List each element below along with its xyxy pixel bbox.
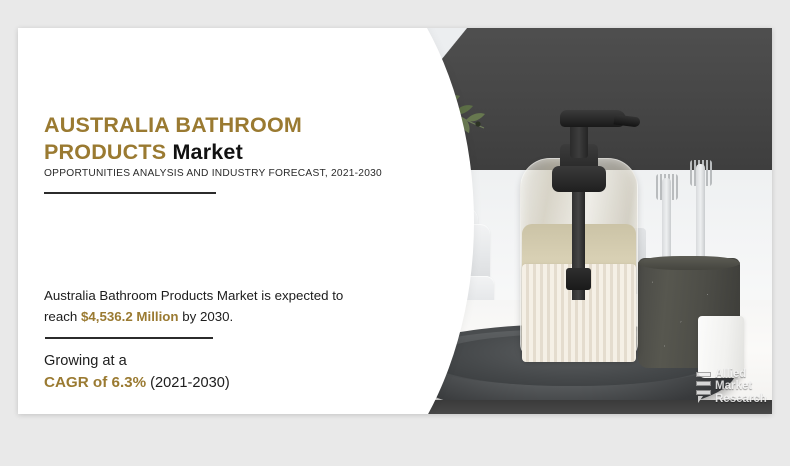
page-subtitle: OPPORTUNITIES ANALYSIS AND INDUSTRY FORE… (44, 168, 374, 179)
cagr-years: (2021-2030) (146, 375, 230, 391)
divider-under-subtitle (44, 192, 216, 194)
logo-line-1: Allied (715, 368, 772, 380)
cover-text-column: AUSTRALIA BATHROOM PRODUCTS Market OPPOR… (18, 28, 378, 414)
logo-wordmark: Allied Market Research (715, 368, 772, 405)
cagr-lead: Growing at a (44, 353, 127, 369)
cagr-highlight: CAGR of 6.3% (44, 374, 146, 391)
toothbrush-holder-rim (638, 256, 740, 270)
title-line-2-black: Market (172, 140, 243, 164)
title-line-1: AUSTRALIA BATHROOM (44, 113, 302, 137)
summary-suffix: by 2030. (179, 309, 234, 324)
pump-stem (570, 124, 588, 158)
product-photo (370, 28, 772, 414)
speech-bubble-icon (696, 370, 713, 404)
allied-market-research-logo: Allied Market Research (696, 368, 772, 412)
report-cover-card: AUSTRALIA BATHROOM PRODUCTS Market OPPOR… (18, 28, 772, 414)
pump-tube-foot (566, 268, 591, 290)
page-title: AUSTRALIA BATHROOM PRODUCTS Market (44, 112, 362, 166)
market-summary-text: Australia Bathroom Products Market is ex… (44, 285, 374, 327)
screenshot-stage: AUSTRALIA BATHROOM PRODUCTS Market OPPOR… (0, 0, 790, 466)
title-line-2-gold: PRODUCTS (44, 140, 166, 164)
pump-collar (552, 166, 606, 192)
toothbrush-right (696, 164, 705, 270)
cagr-block: Growing at a CAGR of 6.3% (2021-2030) (44, 350, 364, 394)
logo-line-2: Market (715, 380, 772, 392)
divider-under-summary (45, 337, 213, 339)
summary-value: $4,536.2 Million (81, 309, 179, 324)
logo-line-3: Research (715, 393, 772, 405)
